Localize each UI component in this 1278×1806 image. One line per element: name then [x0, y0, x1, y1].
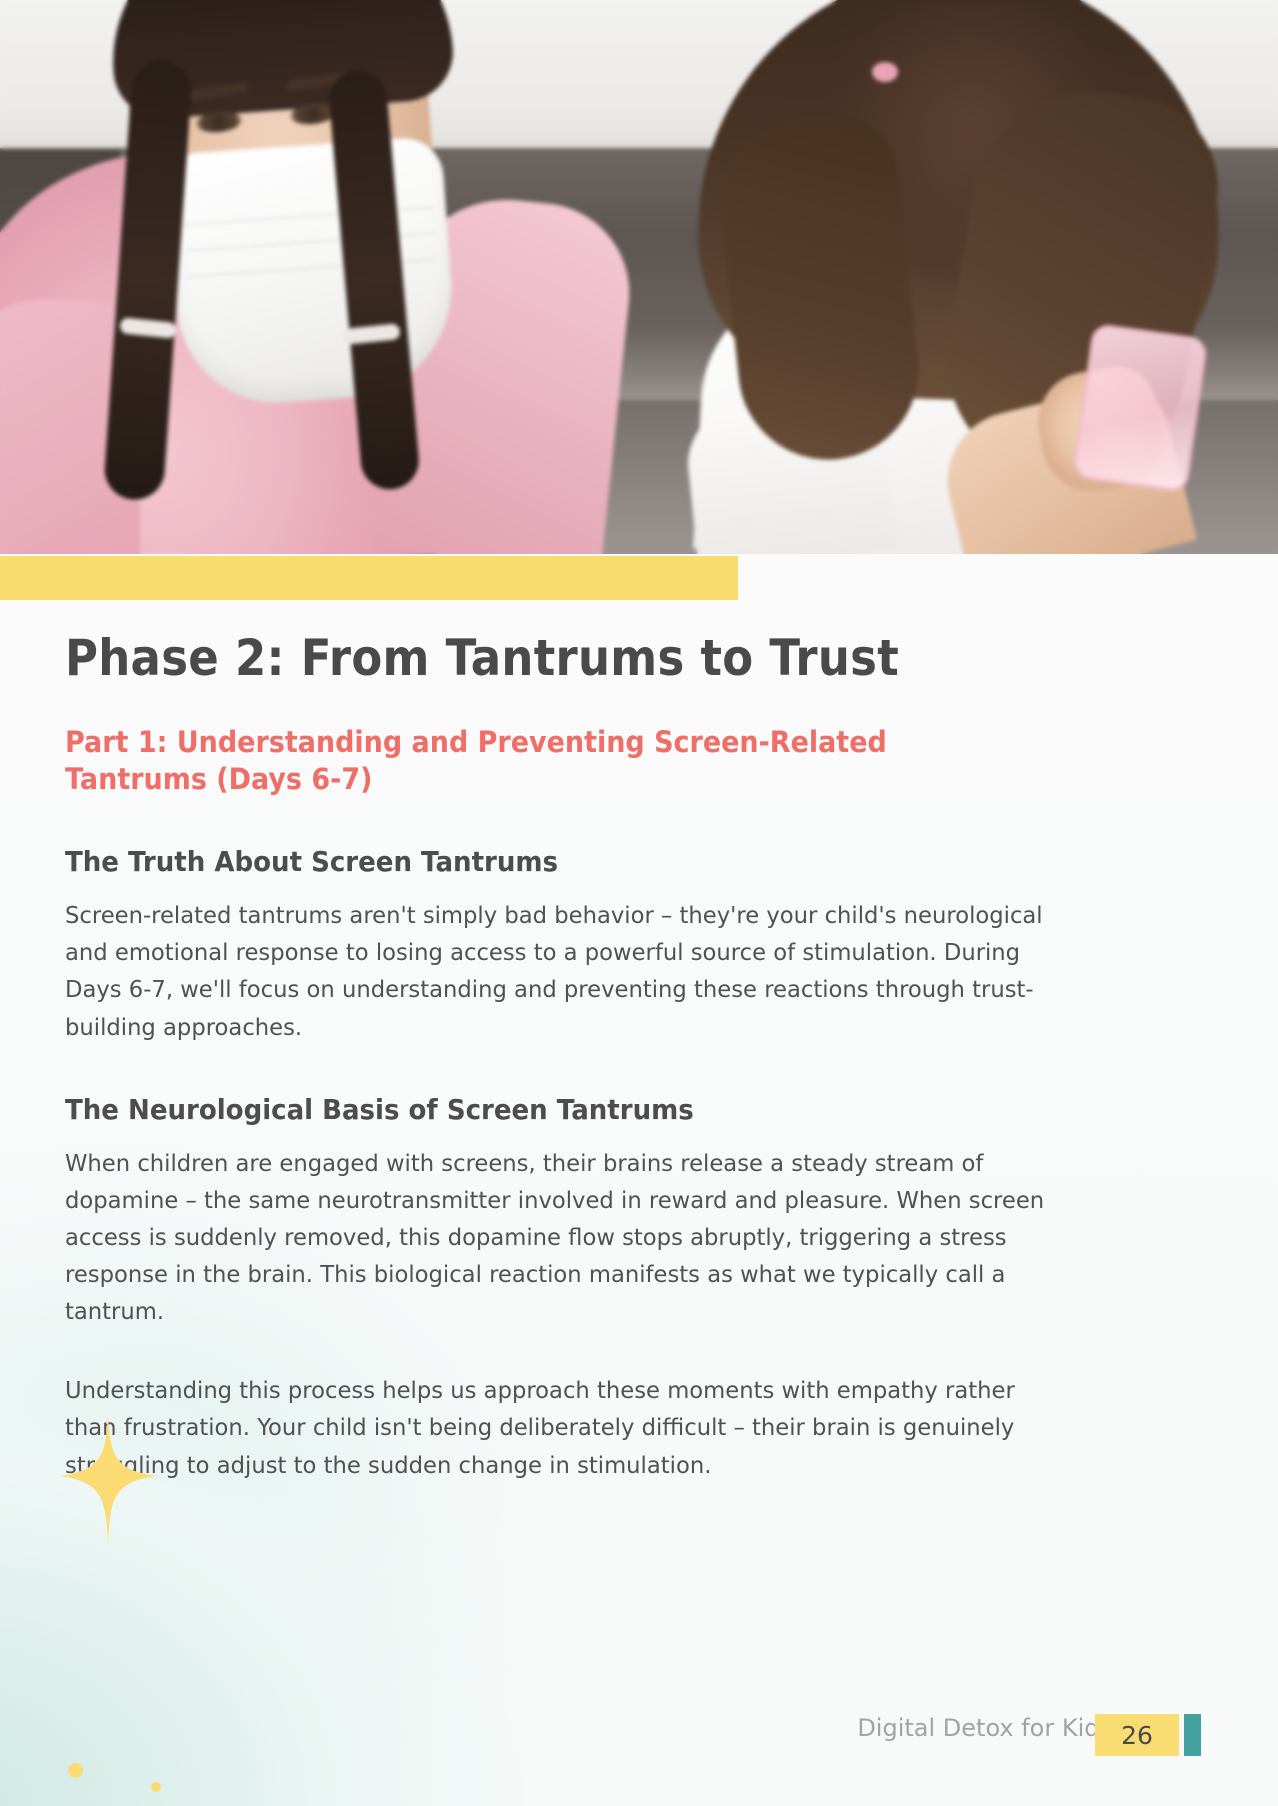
document-page: Phase 2: From Tantrums to Trust Part 1: …: [0, 0, 1278, 1806]
photo-depth-blur: [0, 0, 1278, 554]
page-content: Phase 2: From Tantrums to Trust Part 1: …: [65, 630, 1215, 1484]
decorative-dot-small: [151, 1782, 161, 1792]
page-number-value: 26: [1121, 1721, 1153, 1750]
page-number-teal-bar: [1184, 1714, 1201, 1756]
hero-photo: [0, 0, 1278, 554]
section-heading-truth-about-screen-tantrums: The Truth About Screen Tantrums: [65, 844, 1135, 879]
page-title: Phase 2: From Tantrums to Trust: [65, 630, 1100, 686]
section-paragraph: Understanding this process helps us appr…: [65, 1372, 1044, 1483]
footer-book-title: Digital Detox for Kids: [857, 1714, 1112, 1742]
section-paragraph: Screen-related tantrums aren't simply ba…: [65, 897, 1044, 1046]
page-footer: Digital Detox for Kids 26: [0, 1700, 1278, 1764]
part-subtitle: Part 1: Understanding and Preventing Scr…: [65, 724, 995, 798]
decorative-dot-large: [68, 1763, 83, 1778]
yellow-accent-bar: [0, 556, 738, 600]
section-paragraph: When children are engaged with screens, …: [65, 1145, 1044, 1331]
sparkle-star-icon: [60, 1414, 156, 1544]
section-heading-neurological-basis: The Neurological Basis of Screen Tantrum…: [65, 1092, 1135, 1127]
page-number-badge: 26: [1095, 1714, 1179, 1756]
